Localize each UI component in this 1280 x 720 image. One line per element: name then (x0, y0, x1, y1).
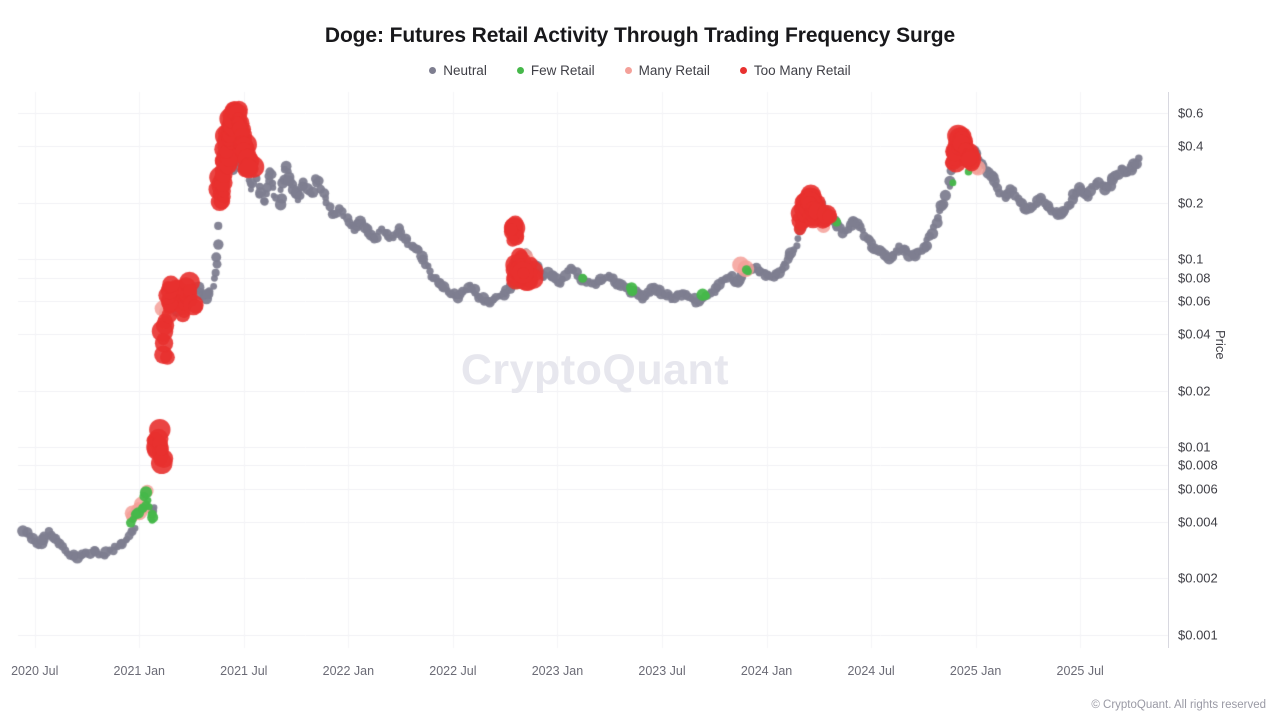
y-axis-tick-label: $0.06 (1178, 294, 1211, 309)
y-axis-tick-label: $0.02 (1178, 383, 1211, 398)
x-axis-tick-label: 2024 Jul (847, 664, 894, 678)
y-axis-tick-label: $0.002 (1178, 571, 1218, 586)
x-axis-labels: 2020 Jul2021 Jan2021 Jul2022 Jan2022 Jul… (0, 664, 1280, 690)
y-axis-line (1168, 92, 1169, 648)
x-axis-tick-label: 2025 Jan (950, 664, 1001, 678)
y-axis-tick-label: $0.01 (1178, 440, 1211, 455)
x-axis-tick-label: 2023 Jan (532, 664, 583, 678)
x-axis-tick-label: 2021 Jul (220, 664, 267, 678)
chart-container: Doge: Futures Retail Activity Through Tr… (0, 0, 1280, 720)
y-axis-tick-label: $0.008 (1178, 458, 1218, 473)
scatter-plot-canvas[interactable] (0, 0, 1280, 720)
x-axis-tick-label: 2022 Jul (429, 664, 476, 678)
y-axis-title: Price (1213, 330, 1228, 360)
x-axis-tick-label: 2022 Jan (323, 664, 374, 678)
y-axis-tick-label: $0.1 (1178, 252, 1203, 267)
y-axis-tick-label: $0.004 (1178, 514, 1218, 529)
x-axis-tick-label: 2025 Jul (1057, 664, 1104, 678)
x-axis-tick-label: 2021 Jan (114, 664, 165, 678)
y-axis-tick-label: $0.4 (1178, 139, 1203, 154)
y-axis-tick-label: $0.2 (1178, 195, 1203, 210)
x-axis-tick-label: 2020 Jul (11, 664, 58, 678)
copyright-footer: © CryptoQuant. All rights reserved (1091, 699, 1266, 711)
y-axis-tick-label: $0.6 (1178, 106, 1203, 121)
y-axis-tick-label: $0.006 (1178, 481, 1218, 496)
y-axis-tick-label: $0.08 (1178, 270, 1211, 285)
y-axis-tick-label: $0.04 (1178, 327, 1211, 342)
x-axis-tick-label: 2024 Jan (741, 664, 792, 678)
y-axis-tick-label: $0.001 (1178, 627, 1218, 642)
x-axis-tick-label: 2023 Jul (638, 664, 685, 678)
